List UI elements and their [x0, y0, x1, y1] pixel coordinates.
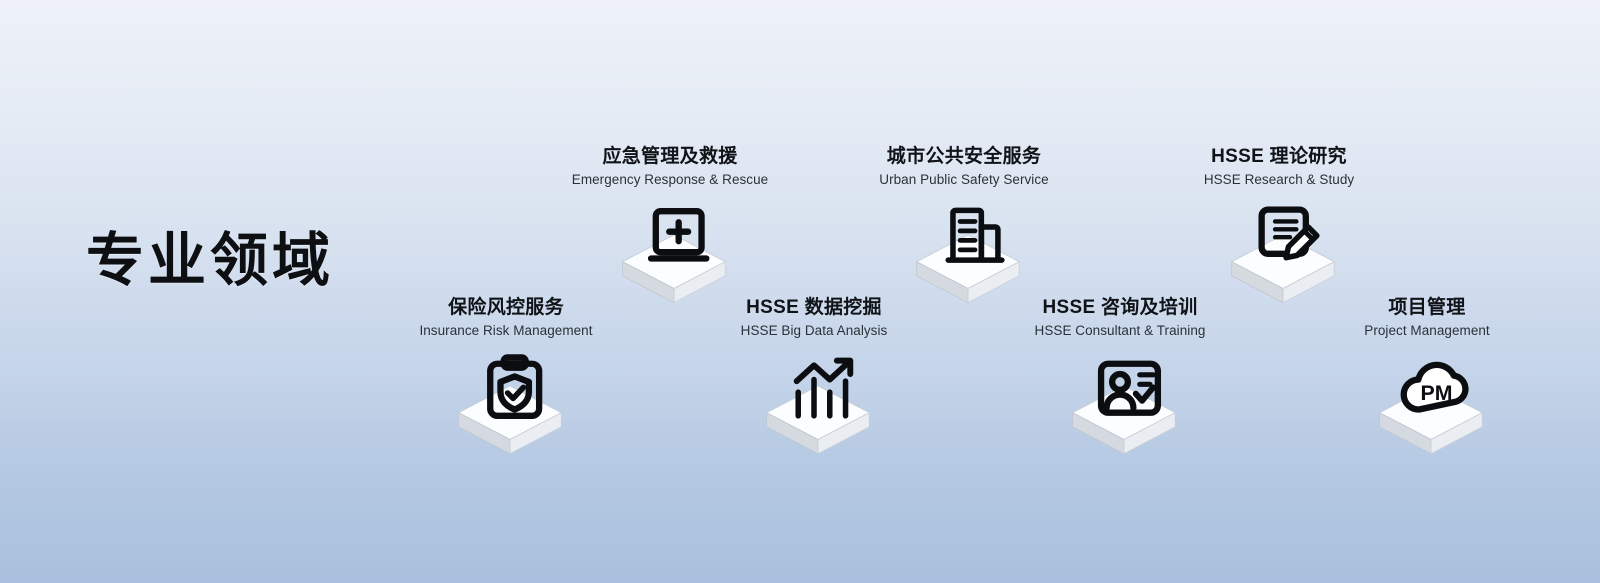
domain-item-title-en: Insurance Risk Management — [356, 322, 656, 340]
domain-item-insurance-risk-management[interactable]: 保险风控服务Insurance Risk Management — [356, 296, 656, 458]
domain-item-title-cn: 应急管理及救援 — [520, 145, 820, 169]
domain-item-project-management[interactable]: 项目管理Project Management PM — [1277, 296, 1577, 458]
domain-item-title-en: HSSE Research & Study — [1129, 171, 1429, 189]
isometric-platform — [623, 235, 726, 303]
isometric-platform — [767, 386, 870, 454]
domain-item-title-en: Project Management — [1277, 322, 1577, 340]
domain-item-title-cn: 城市公共安全服务 — [814, 145, 1114, 169]
domain-item-artwork — [1129, 197, 1429, 307]
domain-item-artwork: PM — [1277, 348, 1577, 458]
domain-item-title-cn: HSSE 理论研究 — [1129, 145, 1429, 169]
domain-item-emergency-response-rescue[interactable]: 应急管理及救援Emergency Response & Rescue — [520, 145, 820, 307]
domain-item-title-en: HSSE Consultant & Training — [970, 322, 1270, 340]
domain-item-artwork — [356, 348, 656, 458]
domain-item-hsse-consultant-training[interactable]: HSSE 咨询及培训HSSE Consultant & Training — [970, 296, 1270, 458]
domain-item-artwork — [814, 197, 1114, 307]
domain-item-title-en: Urban Public Safety Service — [814, 171, 1114, 189]
monitor-plus-icon — [651, 211, 706, 258]
page-title: 专业领域 — [86, 231, 334, 292]
svg-text:PM: PM — [1421, 381, 1453, 405]
isometric-platform — [917, 235, 1020, 303]
isometric-platform — [1232, 235, 1335, 303]
domain-item-hsse-research-study[interactable]: HSSE 理论研究HSSE Research & Study — [1129, 145, 1429, 307]
domain-item-title-en: Emergency Response & Rescue — [520, 171, 820, 189]
domain-item-artwork — [664, 348, 964, 458]
professional-domains-banner: 专业领域 保险风控服务Insurance Risk Management 应急管… — [0, 0, 1600, 583]
domain-item-title-cn: 项目管理 — [1277, 296, 1577, 320]
domain-item-artwork — [520, 197, 820, 307]
domain-item-artwork — [970, 348, 1270, 458]
cloud-pm-icon: PM — [1404, 365, 1466, 410]
domain-item-title-en: HSSE Big Data Analysis — [664, 322, 964, 340]
domain-item-hsse-big-data-analysis[interactable]: HSSE 数据挖掘HSSE Big Data Analysis — [664, 296, 964, 458]
domain-item-urban-public-safety-service[interactable]: 城市公共安全服务Urban Public Safety Service — [814, 145, 1114, 307]
